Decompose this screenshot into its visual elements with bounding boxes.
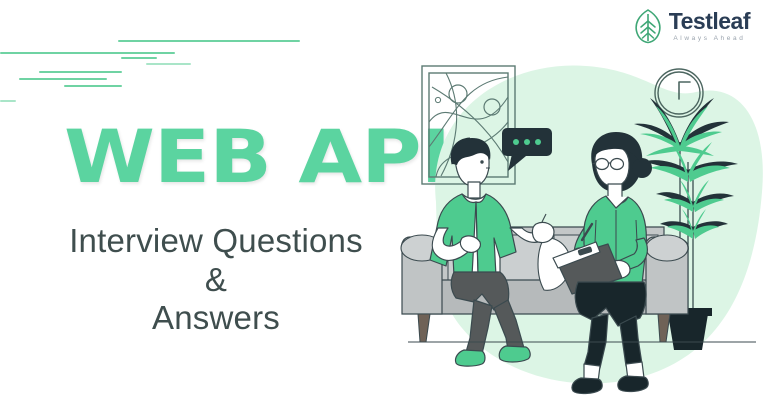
decor-line: [0, 100, 16, 102]
page-title: WEB API: [64, 123, 450, 192]
subtitle-line-1: Interview Questions: [36, 222, 396, 261]
decor-line: [0, 52, 175, 54]
decor-line: [39, 71, 122, 73]
subtitle-ampersand: &: [36, 261, 396, 300]
web-api-banner: Testleaf Always Ahead WEB API Interview …: [0, 0, 768, 403]
decor-line: [121, 57, 157, 59]
decor-line: [118, 40, 300, 42]
interview-illustration: [396, 52, 768, 403]
page-subtitle: Interview Questions & Answers: [36, 222, 396, 338]
decor-line: [146, 63, 191, 65]
decor-line: [19, 78, 107, 80]
leaf-icon: [633, 8, 663, 44]
logo-tagline: Always Ahead: [669, 36, 750, 43]
logo-text: Testleaf Always Ahead: [669, 10, 750, 43]
decor-line: [64, 85, 122, 87]
logo-name: Testleaf: [669, 10, 750, 33]
testleaf-logo[interactable]: Testleaf Always Ahead: [633, 8, 750, 44]
subtitle-line-3: Answers: [36, 299, 396, 338]
